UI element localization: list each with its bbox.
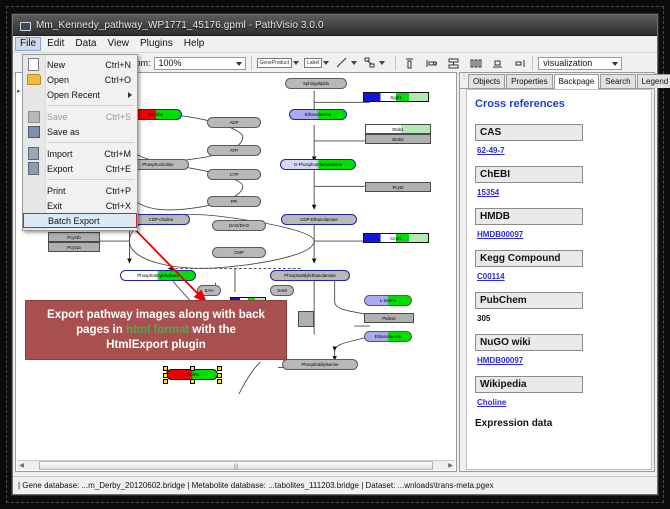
- menu-item-open-recent[interactable]: Open Recent: [23, 87, 137, 102]
- menu-item-import-label: Import: [47, 149, 73, 159]
- xref-link-nugo[interactable]: HMDB00097: [477, 356, 523, 365]
- line-chevron-down-icon[interactable]: [351, 61, 357, 65]
- metabolite-node-atp[interactable]: ATP: [207, 145, 261, 156]
- tab-search[interactable]: Search: [600, 74, 635, 88]
- selection-handle-3[interactable]: [163, 373, 168, 378]
- visualization-combobox[interactable]: visualization: [538, 57, 622, 70]
- menu-item-save-as-label: Save as: [47, 127, 80, 137]
- menu-item-export-shortcut: Ctrl+E: [106, 164, 131, 174]
- selection-handle-6[interactable]: [190, 379, 195, 384]
- visualization-value: visualization: [543, 58, 592, 68]
- gene-label-pcyt1a: Pcyt1a: [67, 245, 80, 250]
- menu-bar: File Edit Data View Plugins Help: [13, 36, 657, 53]
- gene-node-shape-block[interactable]: [298, 311, 314, 327]
- metabolite-node-adp[interactable]: ADP: [207, 117, 261, 128]
- xref-value-pubchem: 305: [477, 314, 651, 323]
- menu-data[interactable]: Data: [70, 37, 101, 51]
- xref-value-nugo[interactable]: HMDB00097: [477, 356, 651, 365]
- menu-item-batch-export[interactable]: Batch Export: [23, 213, 137, 228]
- backpage-content: Cross references CAS 62-49-7 ChEBI 15354…: [466, 89, 652, 470]
- metabolite-label-adp: ADP: [229, 120, 238, 125]
- menu-item-save-label: Save: [47, 112, 68, 122]
- open-folder-icon: [27, 74, 41, 85]
- menu-item-save-as[interactable]: Save as: [23, 124, 137, 139]
- gene-label-etnk2: Etnk2: [392, 137, 403, 142]
- gene-node-pcyt2[interactable]: Pcyt2: [365, 182, 431, 192]
- align-right-icon[interactable]: [511, 55, 527, 71]
- callout-line-3: HtmlExport plugin: [106, 338, 206, 353]
- menu-item-import[interactable]: Import Ctrl+M: [23, 146, 137, 161]
- metabolite-label-sam: SAM: [277, 288, 287, 293]
- canvas-collapse-icon[interactable]: ▸: [17, 87, 21, 95]
- callout-line-2-post: with the: [189, 324, 236, 336]
- menu-view[interactable]: View: [102, 37, 134, 51]
- window-title: Mm_Kennedy_pathway_WP1771_45176.gpml - P…: [36, 20, 324, 31]
- chevron-down-icon: [236, 62, 242, 66]
- xref-value-wikipedia[interactable]: Choline: [477, 398, 651, 407]
- align-top-icon[interactable]: [401, 55, 417, 71]
- zoom-combobox[interactable]: 100%: [154, 57, 246, 70]
- menu-item-open-shortcut: Ctrl+O: [105, 75, 131, 85]
- shape-chevron-down-icon[interactable]: [379, 61, 385, 65]
- xref-link-cas[interactable]: 62-49-7: [477, 146, 505, 155]
- xref-link-chebi[interactable]: 15354: [477, 188, 499, 197]
- stack-vertical-icon[interactable]: [445, 55, 461, 71]
- menu-item-new-label: New: [47, 60, 65, 70]
- metabolite-label-o-phosphoethanolamine: O-Phosphoethanolamine: [294, 162, 343, 167]
- save-disk-icon: [28, 111, 40, 123]
- xref-header-chebi: ChEBI: [475, 166, 583, 183]
- toolbar-separator-3: [532, 56, 533, 70]
- xref-value-cas[interactable]: 62-49-7: [477, 146, 651, 155]
- callout-line-2-highlight: html format: [126, 324, 189, 336]
- selection-handle-7[interactable]: [217, 379, 222, 384]
- menu-help[interactable]: Help: [179, 37, 210, 51]
- gene-label-sgpl1: Sgpl1: [390, 95, 401, 100]
- screenshot-root: Mm_Kennedy_pathway_WP1771_45176.gpml - P…: [0, 0, 670, 509]
- import-icon: [28, 147, 39, 160]
- callout-box: Export pathway images along with back pa…: [25, 300, 287, 360]
- xref-header-hmdb: HMDB: [475, 208, 583, 225]
- toolbar-separator-2: [395, 56, 396, 70]
- xref-value-kegg[interactable]: C00114: [477, 272, 651, 281]
- menu-separator-3: [47, 179, 134, 180]
- metabolite-node-ctp[interactable]: CTP: [207, 169, 261, 180]
- scrollbar-grip-icon: |||: [234, 464, 239, 470]
- expression-data-heading: Expression data: [475, 418, 651, 429]
- title-bar: Mm_Kennedy_pathway_WP1771_45176.gpml - P…: [13, 15, 657, 36]
- metabolite-node-phosphatidylethanolamine[interactable]: Phosphatidylethanolamine: [270, 270, 350, 281]
- canvas-horizontal-scrollbar[interactable]: ◀ ||| ▶: [17, 460, 455, 470]
- xref-header-wikipedia: Wikipedia: [475, 376, 583, 393]
- gene-label-pcyt1b: Pcyt1b: [67, 235, 80, 240]
- selection-handle-1[interactable]: [190, 366, 195, 371]
- tab-properties[interactable]: Properties: [506, 74, 552, 88]
- gene-node-pcyt1b[interactable]: Pcyt1b: [48, 232, 100, 242]
- status-text: | Gene database: ...m_Derby_20120602.bri…: [13, 481, 494, 490]
- gene-label-ptdss2: Ptdss2: [382, 316, 395, 321]
- datanode-icon[interactable]: GeneProduct: [257, 58, 292, 68]
- line-icon[interactable]: [334, 55, 350, 71]
- xref-header-kegg: Kegg Compound: [475, 250, 583, 267]
- menu-item-exit-shortcut: Ctrl+X: [106, 201, 131, 211]
- datanode-chevron-down-icon[interactable]: [293, 61, 299, 65]
- metabolite-label-ctp: CTP: [230, 172, 239, 177]
- metabolite-node-sphingolipids[interactable]: Sphingolipids: [285, 78, 347, 89]
- metabolite-node-sam[interactable]: SAM: [270, 285, 294, 296]
- tab-backpage[interactable]: Backpage: [554, 74, 600, 89]
- menu-item-open-recent-label: Open Recent: [47, 90, 100, 100]
- metabolite-label-ethanolamine-top: Ethanolamine: [305, 112, 332, 117]
- menu-item-export-label: Export: [47, 164, 73, 174]
- export-icon: [28, 162, 39, 175]
- metabolite-node-l-serine[interactable]: L-Serine: [364, 295, 412, 306]
- metabolite-label-sphingolipids: Sphingolipids: [303, 81, 329, 86]
- menu-separator-1: [47, 105, 134, 106]
- menu-plugins[interactable]: Plugins: [135, 37, 178, 51]
- scroll-left-icon[interactable]: ◀: [17, 461, 26, 470]
- xref-link-wikipedia[interactable]: Choline: [477, 398, 506, 407]
- gene-node-pcyt1a[interactable]: Pcyt1a: [48, 242, 100, 252]
- new-document-icon: [28, 58, 39, 71]
- metabolite-label-ppi: PPi: [231, 199, 238, 204]
- menu-item-print[interactable]: Print Ctrl+P: [23, 183, 137, 198]
- metabolite-label-ethanolamine-bottom: Ethanolamine: [375, 334, 402, 339]
- xref-header-pubchem: PubChem: [475, 292, 583, 309]
- tab-legend[interactable]: Legend: [637, 74, 670, 88]
- metabolite-label-phosphatidylserine: Phosphatidylserine: [301, 362, 338, 367]
- metabolite-node-ethanolamine-bottom[interactable]: Ethanolamine: [364, 331, 412, 342]
- side-panel-grip-icon[interactable]: ⋮: [461, 75, 467, 79]
- scrollbar-track[interactable]: |||: [26, 461, 446, 470]
- menu-file[interactable]: File: [15, 37, 41, 51]
- selection-handle-2[interactable]: [217, 366, 222, 371]
- metabolite-node-phosphatidylserine[interactable]: Phosphatidylserine: [282, 359, 358, 370]
- toolbar-separator: [251, 56, 252, 70]
- xref-value-chebi[interactable]: 15354: [477, 188, 651, 197]
- menu-item-new[interactable]: New Ctrl+N: [23, 57, 137, 72]
- file-menu-dropdown[interactable]: New Ctrl+N Open Ctrl+O Open Recent Save …: [22, 54, 138, 231]
- metabolite-label-choline-selected: Choline: [185, 372, 200, 377]
- gene-label-etnk1: Etnk1: [392, 127, 403, 132]
- zoom-value: 100%: [159, 58, 182, 68]
- menu-item-save: Save Ctrl+S: [23, 109, 137, 124]
- xref-header-nugo: NuGO wiki: [475, 334, 583, 351]
- menu-item-exit-label: Exit: [47, 201, 62, 211]
- menu-item-open[interactable]: Open Ctrl+O: [23, 72, 137, 87]
- gene-label-cept1: Cept1: [390, 236, 402, 241]
- menu-item-new-shortcut: Ctrl+N: [105, 60, 131, 70]
- menu-item-save-shortcut: Ctrl+S: [106, 112, 131, 122]
- metabolite-label-phosphocholine: Phosphocholine: [142, 162, 173, 167]
- xref-link-hmdb[interactable]: HMDB00097: [477, 230, 523, 239]
- metabolite-node-o-phosphoethanolamine[interactable]: O-Phosphoethanolamine: [280, 159, 356, 170]
- pathvisio-window: Mm_Kennedy_pathway_WP1771_45176.gpml - P…: [12, 14, 658, 495]
- align-left-icon[interactable]: [423, 55, 439, 71]
- tab-objects[interactable]: Objects: [468, 74, 505, 88]
- gene-node-etnk1[interactable]: Etnk1: [365, 124, 431, 134]
- callout-line-2-pre: pages in: [76, 324, 126, 336]
- label-icon[interactable]: Label: [304, 58, 322, 68]
- shape-icon[interactable]: [362, 55, 378, 71]
- metabolite-label-phosphatidylethanolamine: Phosphatidylethanolamine: [284, 273, 336, 278]
- metabolite-label-atp: ATP: [230, 148, 238, 153]
- submenu-arrow-icon: [128, 92, 132, 98]
- xref-header-cas: CAS: [475, 124, 583, 141]
- label-chevron-down-icon[interactable]: [323, 61, 329, 65]
- metabolite-label-l-serine: L-Serine: [380, 298, 397, 303]
- selection-handle-4[interactable]: [217, 373, 222, 378]
- chevron-down-icon-2: [612, 62, 618, 66]
- metabolite-node-ethanolamine-top[interactable]: Ethanolamine: [289, 109, 347, 120]
- selection-handle-0[interactable]: [163, 366, 168, 371]
- menu-item-print-label: Print: [47, 186, 66, 196]
- callout-line-2: pages in html format with the: [76, 323, 236, 338]
- metabolite-label-choline-top: Choline: [149, 112, 164, 117]
- side-panel: ⋮ Objects Properties Backpage Search Leg…: [459, 72, 655, 472]
- metabolite-node-cdp-ethanolamine[interactable]: CDP-Ethanolamine: [281, 214, 357, 225]
- menu-item-export[interactable]: Export Ctrl+E: [23, 161, 137, 176]
- menu-item-batch-export-label: Batch Export: [48, 216, 100, 226]
- selection-handle-5[interactable]: [163, 379, 168, 384]
- pathvisio-icon: [19, 19, 31, 31]
- save-as-icon: [28, 126, 40, 138]
- menu-separator-2: [47, 142, 134, 143]
- menu-edit[interactable]: Edit: [42, 37, 69, 51]
- side-panel-tabs: Objects Properties Backpage Search Legen…: [460, 73, 654, 89]
- menu-item-print-shortcut: Ctrl+P: [106, 186, 131, 196]
- gene-label-pcyt2: Pcyt2: [393, 185, 404, 190]
- scroll-right-icon[interactable]: ▶: [446, 461, 455, 470]
- menu-item-open-label: Open: [47, 75, 69, 85]
- gene-node-sgpl1[interactable]: Sgpl1: [363, 92, 429, 102]
- callout-line-1: Export pathway images along with back: [47, 308, 265, 323]
- menu-item-exit[interactable]: Exit Ctrl+X: [23, 198, 137, 213]
- xref-value-hmdb[interactable]: HMDB00097: [477, 230, 651, 239]
- gene-node-etnk2[interactable]: Etnk2: [365, 134, 431, 144]
- metabolite-label-cdp-ethanolamine: CDP-Ethanolamine: [300, 217, 338, 222]
- menu-item-import-shortcut: Ctrl+M: [104, 149, 131, 159]
- distribute-horizontal-icon[interactable]: [467, 55, 483, 71]
- gene-node-ptdss2[interactable]: Ptdss2: [364, 313, 414, 323]
- align-bottom-icon[interactable]: [489, 55, 505, 71]
- scrollbar-thumb[interactable]: |||: [39, 461, 434, 470]
- gene-node-cept1[interactable]: Cept1: [363, 233, 429, 243]
- cross-references-heading: Cross references: [475, 98, 651, 110]
- status-bar: | Gene database: ...m_Derby_20120602.bri…: [13, 476, 657, 494]
- xref-link-kegg[interactable]: C00114: [477, 272, 505, 281]
